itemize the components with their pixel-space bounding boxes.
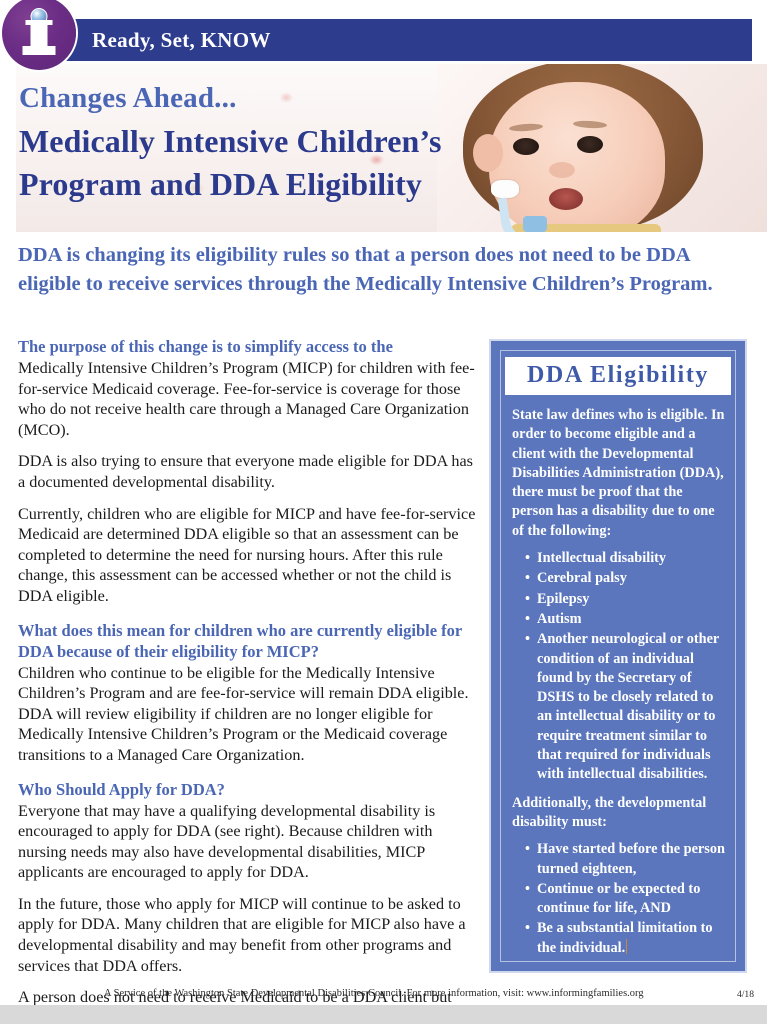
document-page: Ready, Set, KNOW Changes Ahead... Medica… — [0, 0, 767, 1024]
list-item: Another neurological or other condition … — [527, 630, 725, 784]
i-base — [23, 46, 56, 55]
sidebar-inner-frame: DDA Eligibility State law defines who is… — [500, 350, 736, 962]
list-item: Continue or be expected to continue for … — [527, 880, 725, 919]
section-heading: Who Should Apply for DDA? — [18, 779, 481, 800]
content-section: The purpose of this change is to simplif… — [18, 336, 481, 607]
section-paragraph: In the future, those who apply for MICP … — [18, 894, 481, 976]
hero-kicker: Changes Ahead... — [19, 82, 237, 115]
page-title: Medically Intensive Children’s Program a… — [19, 120, 559, 206]
page-bottom-strip — [0, 1005, 767, 1024]
section-paragraph: Currently, children who are eligible for… — [18, 504, 481, 607]
section-paragraph: Everyone that may have a qualifying deve… — [18, 801, 481, 883]
sidebar-title: DDA Eligibility — [527, 362, 709, 388]
baby-eye-right — [577, 136, 603, 153]
sidebar-title-bar: DDA Eligibility — [505, 357, 731, 395]
sidebar-additional-intro: Additionally, the developmental disabili… — [512, 794, 725, 833]
text-cursor — [626, 939, 627, 954]
dda-eligibility-sidebar: DDA Eligibility State law defines who is… — [489, 339, 747, 973]
header-banner: Ready, Set, KNOW — [66, 19, 752, 61]
banner-title: Ready, Set, KNOW — [92, 28, 271, 53]
section-heading: The purpose of this change is to simplif… — [18, 336, 481, 357]
footer-credit: A Service of the Washington State Develo… — [104, 988, 644, 999]
lede-paragraph: DDA is changing its eligibility rules so… — [18, 241, 743, 299]
section-paragraph: Medically Intensive Children’s Program (… — [18, 358, 481, 440]
main-content-column: The purpose of this change is to simplif… — [18, 336, 481, 1024]
list-item: Intellectual disability — [527, 549, 725, 568]
information-i-globe-icon — [2, 0, 76, 70]
section-heading: What does this mean for children who are… — [18, 620, 481, 662]
sidebar-intro: State law defines who is eligible. In or… — [512, 406, 725, 541]
section-paragraph: DDA is also trying to ensure that everyo… — [18, 451, 481, 492]
list-item-with-caret: Be a substantial limitation to the indiv… — [527, 919, 725, 958]
content-section: What does this mean for children who are… — [18, 620, 481, 766]
list-item: Autism — [527, 610, 725, 629]
footer-page-number: 4/18 — [737, 989, 754, 1000]
list-item: Epilepsy — [527, 590, 725, 609]
section-paragraph: Children who continue to be eligible for… — [18, 663, 481, 766]
tubing-clip — [523, 216, 547, 232]
list-item: Cerebral palsy — [527, 569, 725, 588]
list-item: Have started before the person turned ei… — [527, 840, 725, 879]
sidebar-body: State law defines who is eligible. In or… — [501, 395, 735, 973]
list-item-text: Be a substantial limitation to the indiv… — [537, 920, 713, 955]
requirements-list: Have started before the person turned ei… — [512, 840, 725, 958]
eligible-conditions-list: Intellectual disability Cerebral palsy E… — [512, 549, 725, 785]
